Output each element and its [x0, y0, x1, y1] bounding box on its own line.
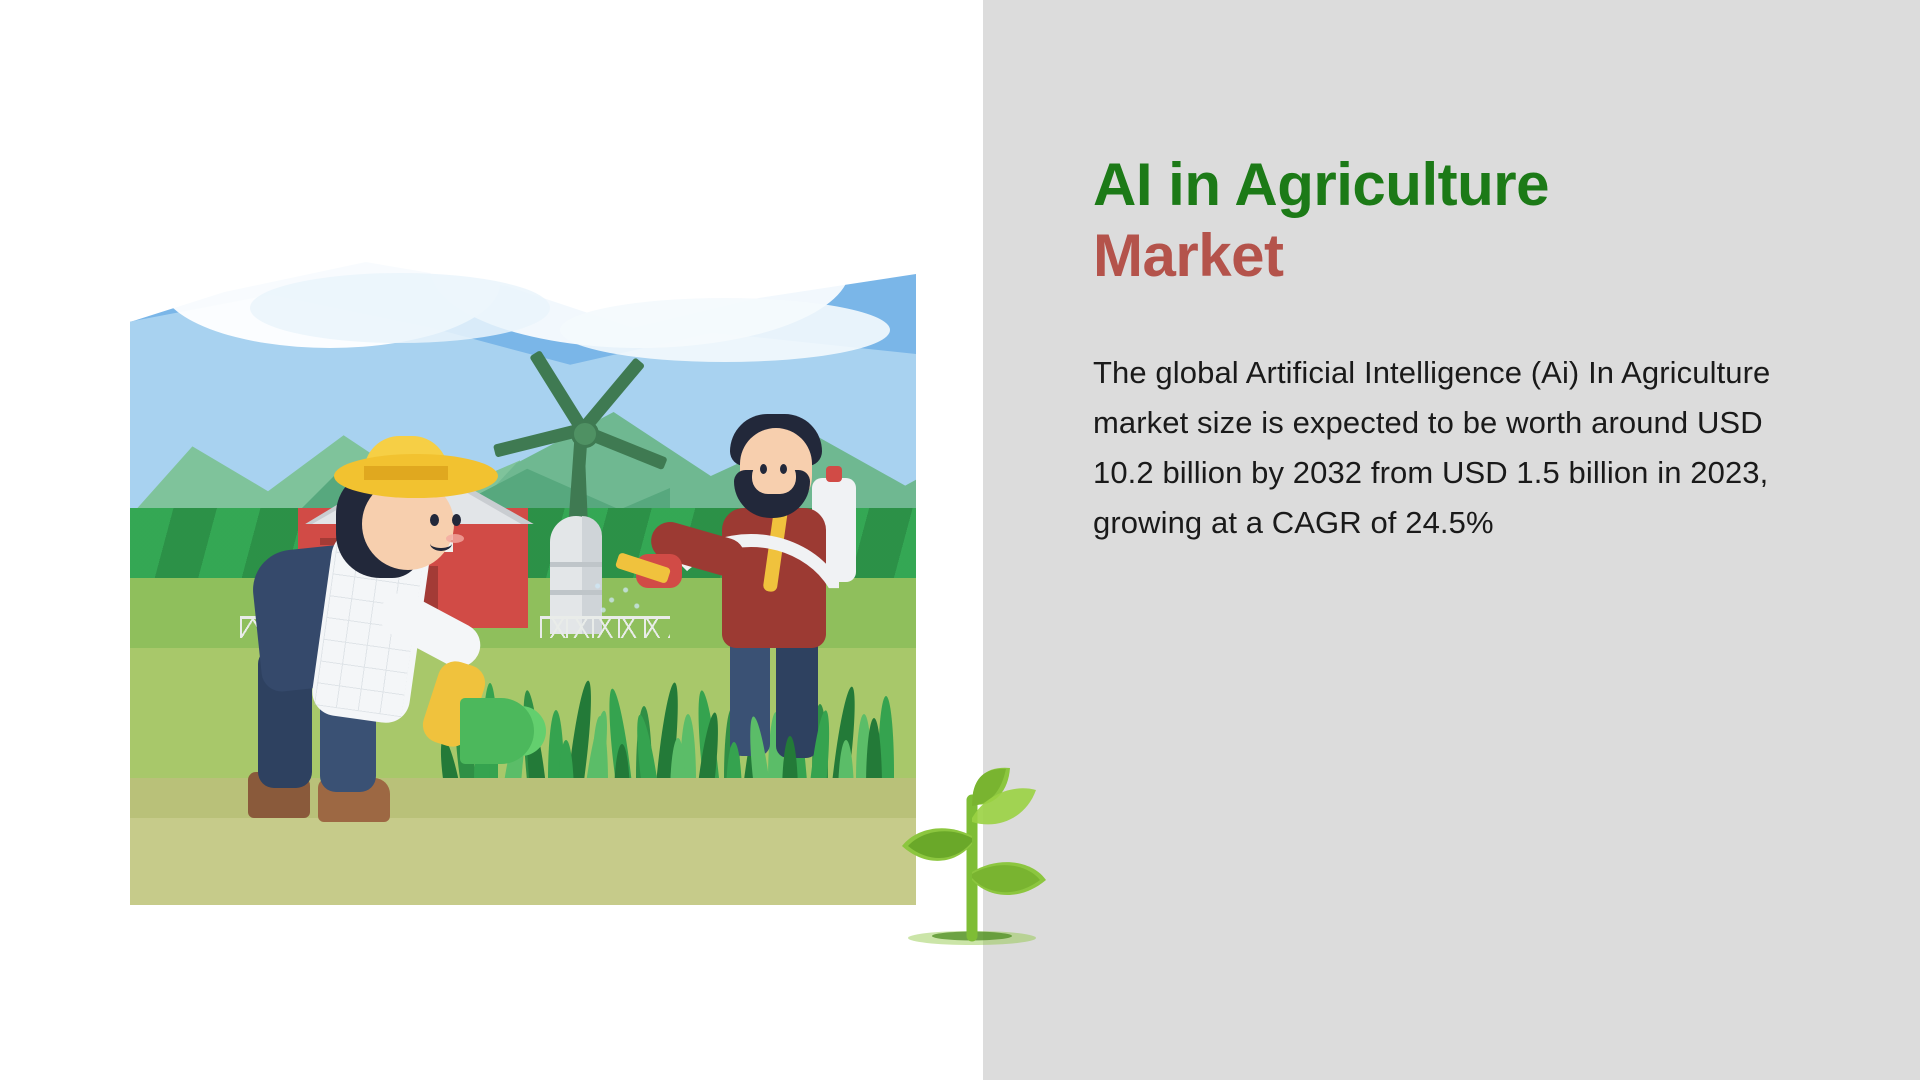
- windmill-hub: [571, 420, 599, 448]
- infographic-page: AI in Agriculture Market The global Arti…: [0, 0, 1920, 1080]
- ground-near: [130, 818, 916, 905]
- content-panel: AI in Agriculture Market The global Arti…: [983, 0, 1920, 1080]
- straw-hat-band: [364, 466, 448, 480]
- page-title-line-1: AI in Agriculture: [1093, 150, 1853, 221]
- farm-illustration: [130, 178, 916, 905]
- illustration-panel: [0, 0, 983, 1080]
- silo-band: [550, 562, 602, 567]
- woman-farmer-smile: [430, 536, 452, 551]
- page-title: AI in Agriculture Market: [1093, 150, 1853, 292]
- harvested-crop-bunch: [460, 698, 534, 764]
- woman-farmer-eye: [430, 514, 439, 526]
- man-farmer-eye: [760, 464, 767, 474]
- sprout-icon: [886, 760, 1058, 950]
- man-farmer-face: [752, 460, 796, 494]
- text-block: AI in Agriculture Market The global Arti…: [1093, 150, 1853, 548]
- sprayer-tank-cap: [826, 466, 842, 482]
- water-spray: [592, 578, 648, 618]
- woman-farmer-eye: [452, 514, 461, 526]
- page-title-line-2: Market: [1093, 221, 1853, 292]
- market-summary-paragraph: The global Artificial Intelligence (Ai) …: [1093, 348, 1793, 549]
- cloud-icon: [560, 298, 890, 362]
- cloud-icon: [250, 273, 550, 343]
- man-farmer-eye: [780, 464, 787, 474]
